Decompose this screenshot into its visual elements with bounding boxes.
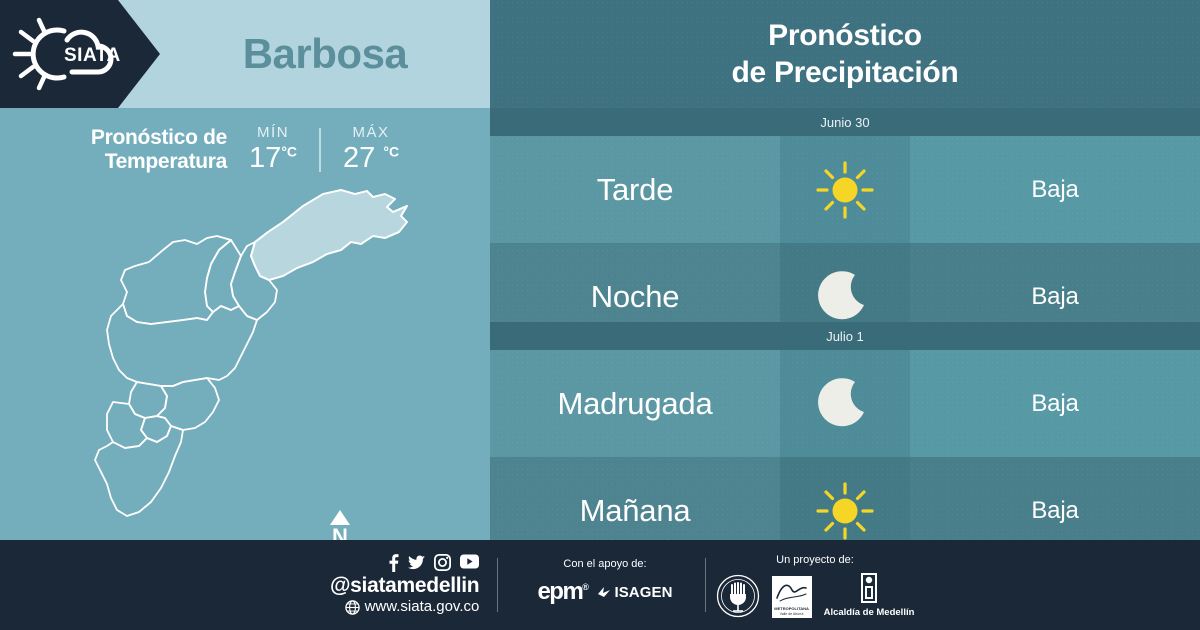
- precipitation-panel: Pronóstico de Precipitación Junio 30 Tar…: [490, 0, 1200, 540]
- forecast-icon-cell: [780, 350, 910, 457]
- forecast-period-label: Mañana: [580, 493, 691, 529]
- twitter-icon[interactable]: [408, 554, 425, 572]
- area-logo-line1: METROPOLITANA: [772, 606, 812, 611]
- isagen-wordmark: ISAGEN: [614, 584, 672, 601]
- social-handle[interactable]: @siatamedellin: [330, 574, 479, 598]
- forecast-icon-cell: [780, 136, 910, 243]
- forecast-probability-cell: Baja: [910, 136, 1200, 243]
- map-region-caldas: [95, 426, 183, 516]
- footer: @siatamedellin www.siata.gov.co Con el a…: [0, 540, 1200, 630]
- forecast-period-label: Tarde: [597, 172, 674, 208]
- map-region-sabaneta: [141, 416, 171, 442]
- support-caption: Con el apoyo de:: [515, 558, 695, 570]
- isagen-logo: ISAGEN: [597, 584, 672, 601]
- area-logo-line2: Valle de Aburrá: [772, 612, 812, 616]
- date-separator-1: Junio 30: [490, 108, 1200, 136]
- moon-icon: [817, 269, 873, 325]
- project-caption: Un proyecto de:: [715, 554, 915, 566]
- support-logos: epm® ISAGEN: [515, 580, 695, 604]
- area-signature-icon: [772, 576, 812, 606]
- temperature-min-label: MÍN: [249, 125, 297, 142]
- forecast-period-label: Madrugada: [557, 386, 712, 422]
- temperature-divider: [319, 128, 321, 172]
- isagen-mark-icon: [597, 585, 611, 599]
- temperature-title-line1: Pronóstico de: [91, 126, 227, 150]
- youtube-icon[interactable]: [460, 554, 479, 569]
- social-block: @siatamedellin www.siata.gov.co: [330, 554, 479, 616]
- city-title: Barbosa: [160, 0, 490, 108]
- epm-logo: epm®: [537, 580, 587, 604]
- svg-text:SIATA: SIATA: [64, 45, 121, 66]
- temperature-max: MÁX 27 °C: [343, 125, 399, 175]
- website-url: www.siata.gov.co: [365, 598, 480, 616]
- precipitation-title-line1: Pronóstico: [768, 17, 922, 55]
- temperature-max-value: 27 °C: [343, 142, 399, 175]
- forecast-probability-label: Baja: [1031, 283, 1078, 311]
- footer-divider-2: [705, 558, 706, 612]
- temperature-max-number: 27: [343, 142, 375, 174]
- forecast-probability-label: Baja: [1031, 497, 1078, 525]
- globe-icon: [345, 600, 360, 615]
- temperature-min: MÍN 17°C: [249, 125, 297, 175]
- temperature-min-unit: °C: [281, 143, 297, 159]
- forecast-probability-label: Baja: [1031, 390, 1078, 418]
- sun-icon: [814, 480, 876, 542]
- forecast-row[interactable]: Madrugada Baja: [490, 350, 1200, 457]
- alcaldia-label: Alcaldía de Medellín: [824, 607, 915, 618]
- forecast-row[interactable]: Tarde: [490, 136, 1200, 243]
- date-separator-2: Julio 1: [490, 322, 1200, 350]
- map-region-medellin: [107, 304, 257, 386]
- forecast-probability-label: Baja: [1031, 176, 1078, 204]
- left-panel: SIATA Barbosa Pronóstico de Temperatura …: [0, 0, 490, 540]
- alcaldia-emblem-icon: [854, 572, 884, 604]
- precipitation-header: Pronóstico de Precipitación: [490, 0, 1200, 108]
- forecast-period-cell: Tarde: [490, 136, 780, 243]
- support-block: Con el apoyo de: epm® ISAGEN: [515, 558, 695, 604]
- forecast-probability-cell: Baja: [910, 350, 1200, 457]
- temperature-max-label: MÁX: [343, 125, 399, 142]
- facebook-icon[interactable]: [388, 554, 399, 572]
- compass-arrow-icon: [330, 510, 350, 525]
- map-region-envigado: [157, 378, 219, 430]
- precipitation-title-line2: de Precipitación: [732, 54, 959, 92]
- alcaldia-logo-wrap: Alcaldía de Medellín: [824, 572, 915, 618]
- temperature-title: Pronóstico de Temperatura: [91, 126, 227, 174]
- forecast-period-label: Noche: [591, 279, 680, 315]
- social-icons: [330, 554, 479, 572]
- sun-icon: [814, 159, 876, 221]
- temperature-min-number: 17: [249, 142, 281, 174]
- temperature-min-value: 17°C: [249, 142, 297, 175]
- universidad-de-antioquia-seal-icon: [716, 574, 760, 618]
- sun-cloud-icon: SIATA: [12, 14, 124, 94]
- area-metropolitana-logo: METROPOLITANA Valle de Aburrá: [772, 576, 812, 618]
- project-logos: METROPOLITANA Valle de Aburrá Alcaldía d…: [715, 572, 915, 618]
- weather-forecast-infographic: SIATA Barbosa Pronóstico de Temperatura …: [0, 0, 1200, 630]
- map-svg: [55, 180, 445, 535]
- website-row[interactable]: www.siata.gov.co: [330, 598, 479, 616]
- forecast-period-cell: Madrugada: [490, 350, 780, 457]
- temperature-title-line2: Temperatura: [91, 150, 227, 174]
- aburra-valley-map: N: [55, 180, 445, 535]
- temperature-max-unit: °C: [383, 143, 399, 159]
- map-region-copacabana: [205, 240, 241, 312]
- instagram-icon[interactable]: [434, 554, 451, 571]
- project-block: Un proyecto de: METROPOLITANA Va: [715, 554, 915, 618]
- moon-icon: [817, 376, 873, 432]
- footer-divider-1: [497, 558, 498, 612]
- map-region-barbosa: [251, 190, 407, 280]
- temperature-block: Pronóstico de Temperatura MÍN 17°C MÁX 2…: [0, 118, 490, 182]
